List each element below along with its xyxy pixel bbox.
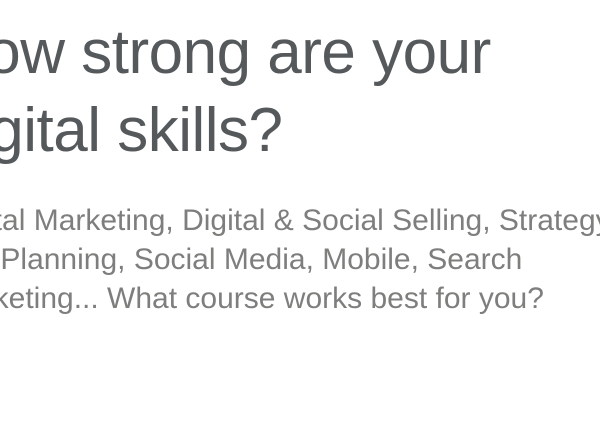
page-description: Digital Marketing, Digital & Social Sell…: [0, 170, 600, 318]
page-title: How strong are your digital skills?: [0, 0, 502, 170]
page-viewport: How strong are your digital skills? Digi…: [0, 0, 600, 422]
text-content-block: How strong are your digital skills? Digi…: [0, 0, 600, 318]
